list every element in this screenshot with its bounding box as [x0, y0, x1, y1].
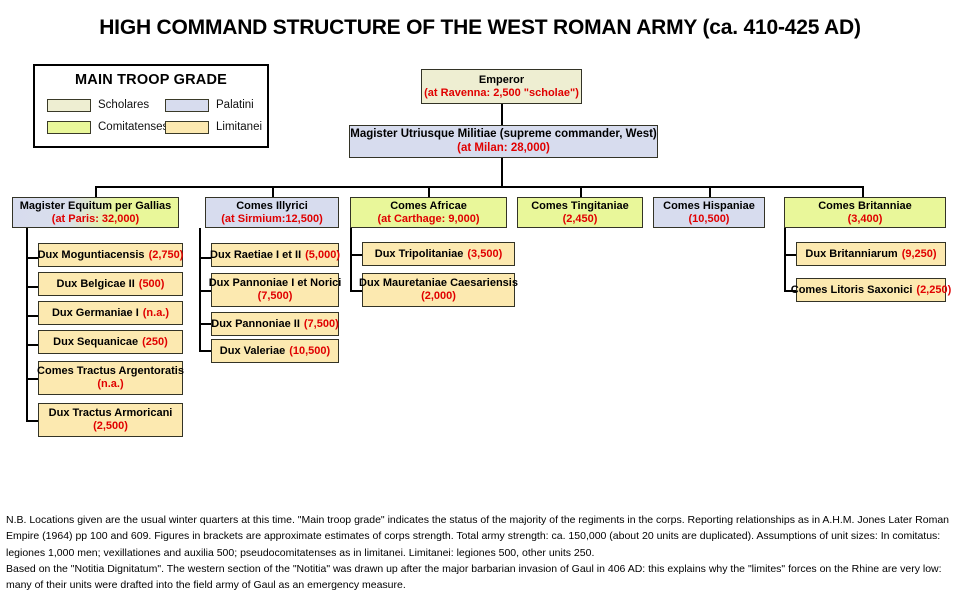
connector-stub-gallias-5 [26, 378, 38, 380]
node-dux-raetiae[interactable]: Dux Raetiae I et II (5,000) [211, 243, 339, 267]
connector-stub-gallias-1 [26, 257, 38, 259]
node-pannoniae-ii-name: Dux Pannoniae II [211, 318, 300, 331]
node-germaniae-value: (n.a.) [143, 307, 169, 320]
connector-stub-illyrici-3 [199, 323, 211, 325]
footnote-line-1: N.B. Locations given are the usual winte… [6, 512, 956, 561]
node-dux-britanniarum[interactable]: Dux Britanniarum (9,250) [796, 242, 946, 266]
legend-swatch-comitatenses [47, 121, 91, 134]
node-africae-name: Comes Africae [390, 200, 467, 213]
legend-label-limitanei: Limitanei [216, 121, 262, 133]
node-germaniae-name: Dux Germaniae I [52, 307, 139, 320]
node-armoricani-value: (2,500) [93, 420, 128, 433]
connector-bus-gallias [95, 186, 97, 197]
node-africae-value: (at Carthage: 9,000) [377, 213, 479, 226]
node-moguntiacensis-name: Dux Moguntiacensis [38, 249, 145, 262]
connector-spine-illyrici [199, 228, 201, 350]
node-valeriae-value: (10,500) [289, 345, 330, 358]
connector-magister-bus [501, 157, 503, 186]
node-comes-africae[interactable]: Comes Africae (at Carthage: 9,000) [350, 197, 507, 228]
node-belgicae-name: Dux Belgicae II [57, 278, 135, 291]
connector-stub-britanniae-1 [784, 254, 796, 256]
node-dux-pannoniae-i-et-norici[interactable]: Dux Pannoniae I et Norici (7,500) [211, 273, 339, 307]
node-comes-tractus-argentoratis[interactable]: Comes Tractus Argentoratis (n.a.) [38, 361, 183, 395]
connector-bus-britanniae [862, 186, 864, 197]
node-magister-name: Magister Utriusque Militiae (supreme com… [350, 128, 657, 142]
node-pannoniae-i-value: (7,500) [258, 290, 293, 303]
connector-stub-gallias-3 [26, 315, 38, 317]
node-litoris-saxonici-value: (2,250) [916, 284, 951, 297]
node-comes-illyrici[interactable]: Comes Illyrici (at Sirmium:12,500) [205, 197, 339, 228]
org-chart: HIGH COMMAND STRUCTURE OF THE WEST ROMAN… [0, 0, 960, 596]
connector-bus-illyrici [272, 186, 274, 197]
legend-swatch-scholares [47, 99, 91, 112]
node-argentoratis-value: (n.a.) [97, 378, 123, 391]
node-tripolitaniae-value: (3,500) [467, 248, 502, 261]
node-tingitaniae-name: Comes Tingitaniae [531, 200, 629, 213]
node-hispaniae-value: (10,500) [689, 213, 730, 226]
connector-stub-gallias-2 [26, 286, 38, 288]
connector-stub-gallias-4 [26, 344, 38, 346]
node-illyrici-value: (at Sirmium:12,500) [221, 213, 322, 226]
node-emperor-value: (at Ravenna: 2,500 "scholae") [424, 87, 579, 100]
legend-title: MAIN TROOP GRADE [35, 72, 267, 88]
page-title: HIGH COMMAND STRUCTURE OF THE WEST ROMAN… [0, 16, 960, 40]
node-magister-equitum-per-gallias[interactable]: Magister Equitum per Gallias (at Paris: … [12, 197, 179, 228]
legend: MAIN TROOP GRADE Scholares Palatini Comi… [33, 64, 269, 148]
node-sequanicae-name: Dux Sequanicae [53, 336, 138, 349]
legend-label-palatini: Palatini [216, 99, 254, 111]
node-dux-belgicae-ii[interactable]: Dux Belgicae II (500) [38, 272, 183, 296]
node-dux-tractus-armoricani[interactable]: Dux Tractus Armoricani (2,500) [38, 403, 183, 437]
legend-grid: Scholares Palatini Comitatenses Limitane… [35, 94, 267, 138]
legend-swatch-palatini [165, 99, 209, 112]
connector-emperor-magister [501, 104, 503, 126]
node-raetiae-value: (5,000) [305, 249, 340, 262]
node-britanniae-name: Comes Britanniae [818, 200, 912, 213]
node-magister-value: (at Milan: 28,000) [457, 142, 550, 156]
node-dux-tripolitaniae[interactable]: Dux Tripolitaniae (3,500) [362, 242, 515, 266]
connector-bus-hispaniae [709, 186, 711, 197]
node-gallias-value: (at Paris: 32,000) [52, 213, 139, 226]
footnote: N.B. Locations given are the usual winte… [6, 512, 956, 593]
connector-bus [95, 186, 863, 188]
connector-bus-africae [428, 186, 430, 197]
node-magister-utriusque-militiae[interactable]: Magister Utriusque Militiae (supreme com… [349, 125, 658, 158]
footnote-line-2: Based on the "Notitia Dignitatum". The w… [6, 561, 956, 594]
node-raetiae-name: Dux Raetiae I et II [210, 249, 301, 262]
node-britanniae-value: (3,400) [848, 213, 883, 226]
node-dux-mauretaniae-caesariensis[interactable]: Dux Mauretaniae Caesariensis (2,000) [362, 273, 515, 307]
legend-item-scholares: Scholares [35, 94, 153, 116]
node-tripolitaniae-name: Dux Tripolitaniae [375, 248, 464, 261]
connector-stub-africae-1 [350, 254, 362, 256]
node-dux-moguntiacensis[interactable]: Dux Moguntiacensis (2,750) [38, 243, 183, 267]
legend-item-palatini: Palatini [153, 94, 271, 116]
node-belgicae-value: (500) [139, 278, 165, 291]
node-gallias-name: Magister Equitum per Gallias [20, 200, 172, 213]
legend-item-limitanei: Limitanei [153, 116, 271, 138]
node-hispaniae-name: Comes Hispaniae [663, 200, 755, 213]
node-emperor-name: Emperor [479, 74, 524, 87]
connector-stub-gallias-6 [26, 420, 38, 422]
connector-bus-tingitaniae [580, 186, 582, 197]
node-emperor[interactable]: Emperor (at Ravenna: 2,500 "scholae") [421, 69, 582, 104]
node-comes-litoris-saxonici[interactable]: Comes Litoris Saxonici (2,250) [796, 278, 946, 302]
connector-stub-illyrici-4 [199, 350, 211, 352]
node-dux-valeriae[interactable]: Dux Valeriae (10,500) [211, 339, 339, 363]
node-dux-pannoniae-ii[interactable]: Dux Pannoniae II (7,500) [211, 312, 339, 336]
node-sequanicae-value: (250) [142, 336, 168, 349]
legend-item-comitatenses: Comitatenses [35, 116, 153, 138]
legend-label-scholares: Scholares [98, 99, 149, 111]
node-mauretaniae-name: Dux Mauretaniae Caesariensis [359, 277, 518, 290]
node-litoris-saxonici-name: Comes Litoris Saxonici [791, 284, 913, 297]
connector-stub-illyrici-2 [199, 290, 211, 292]
node-dux-germaniae-i[interactable]: Dux Germaniae I (n.a.) [38, 301, 183, 325]
node-dux-sequanicae[interactable]: Dux Sequanicae (250) [38, 330, 183, 354]
node-valeriae-name: Dux Valeriae [220, 345, 285, 358]
node-tingitaniae-value: (2,450) [563, 213, 598, 226]
node-pannoniae-i-name: Dux Pannoniae I et Norici [209, 277, 342, 290]
node-moguntiacensis-value: (2,750) [149, 249, 184, 262]
connector-spine-africae [350, 228, 352, 291]
node-armoricani-name: Dux Tractus Armoricani [49, 407, 173, 420]
node-comes-tingitaniae[interactable]: Comes Tingitaniae (2,450) [517, 197, 643, 228]
connector-stub-africae-2 [350, 290, 362, 292]
legend-swatch-limitanei [165, 121, 209, 134]
node-comes-hispaniae[interactable]: Comes Hispaniae (10,500) [653, 197, 765, 228]
connector-spine-britanniae [784, 228, 786, 291]
node-illyrici-name: Comes Illyrici [236, 200, 308, 213]
node-britanniarum-name: Dux Britanniarum [805, 248, 897, 261]
node-comes-britanniae[interactable]: Comes Britanniae (3,400) [784, 197, 946, 228]
node-argentoratis-name: Comes Tractus Argentoratis [37, 365, 184, 378]
node-pannoniae-ii-value: (7,500) [304, 318, 339, 331]
node-mauretaniae-value: (2,000) [421, 290, 456, 303]
node-britanniarum-value: (9,250) [902, 248, 937, 261]
